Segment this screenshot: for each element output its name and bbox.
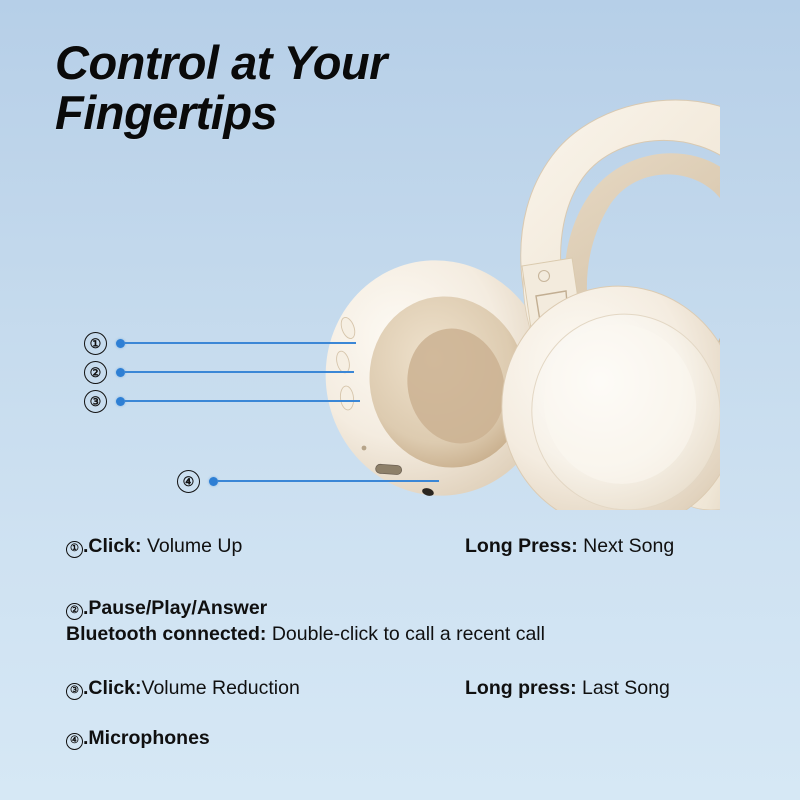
feature-1-right: Long Press: Next Song bbox=[465, 534, 674, 558]
callout-line-4 bbox=[217, 480, 439, 482]
feature-3-left-text: Volume Reduction bbox=[142, 677, 300, 699]
callout-line-1 bbox=[124, 342, 356, 344]
feature-3-left-bold: .Click: bbox=[83, 677, 142, 699]
feature-1-right-text: Next Song bbox=[578, 535, 674, 557]
feature-1-left: ①.Click: Volume Up bbox=[66, 534, 242, 558]
callout-number-4: ④ bbox=[177, 470, 200, 493]
callout-number-1: ① bbox=[84, 332, 107, 355]
feature-2-sub-bold: Bluetooth connected: bbox=[66, 623, 266, 645]
feature-3-left: ③.Click:Volume Reduction bbox=[66, 676, 300, 700]
callout-2: ② bbox=[84, 361, 354, 383]
feature-2-marker: ② bbox=[66, 603, 83, 620]
callout-1: ① bbox=[84, 332, 356, 354]
callout-line-2 bbox=[124, 371, 354, 373]
feature-3-right-text: Last Song bbox=[577, 677, 670, 699]
callout-3: ③ bbox=[84, 390, 360, 412]
feature-1-right-bold: Long Press: bbox=[465, 535, 578, 557]
feature-1-left-text: Volume Up bbox=[142, 535, 243, 557]
callout-number-3: ③ bbox=[84, 390, 107, 413]
feature-2-sub: Bluetooth connected: Double-click to cal… bbox=[66, 622, 545, 646]
feature-1-marker: ① bbox=[66, 541, 83, 558]
feature-4-left-bold: .Microphones bbox=[83, 727, 210, 749]
feature-4-left: ④.Microphones bbox=[66, 726, 210, 750]
callout-number-2: ② bbox=[84, 361, 107, 384]
feature-4-marker: ④ bbox=[66, 733, 83, 750]
feature-3-marker: ③ bbox=[66, 683, 83, 700]
product-infographic-poster: Control at Your Fingertips bbox=[0, 0, 800, 800]
feature-2-left: ②.Pause/Play/Answer bbox=[66, 596, 267, 620]
headphones-product-image: thinkplus bbox=[320, 60, 720, 510]
status-led bbox=[362, 446, 367, 451]
feature-2-sub-text: Double-click to call a recent call bbox=[266, 623, 545, 645]
callout-4: ④ bbox=[177, 470, 439, 492]
callout-line-3 bbox=[124, 400, 360, 402]
feature-2-left-bold: .Pause/Play/Answer bbox=[83, 597, 267, 619]
feature-3-right: Long press: Last Song bbox=[465, 676, 670, 700]
feature-1-left-bold: .Click: bbox=[83, 535, 142, 557]
feature-3-right-bold: Long press: bbox=[465, 677, 577, 699]
